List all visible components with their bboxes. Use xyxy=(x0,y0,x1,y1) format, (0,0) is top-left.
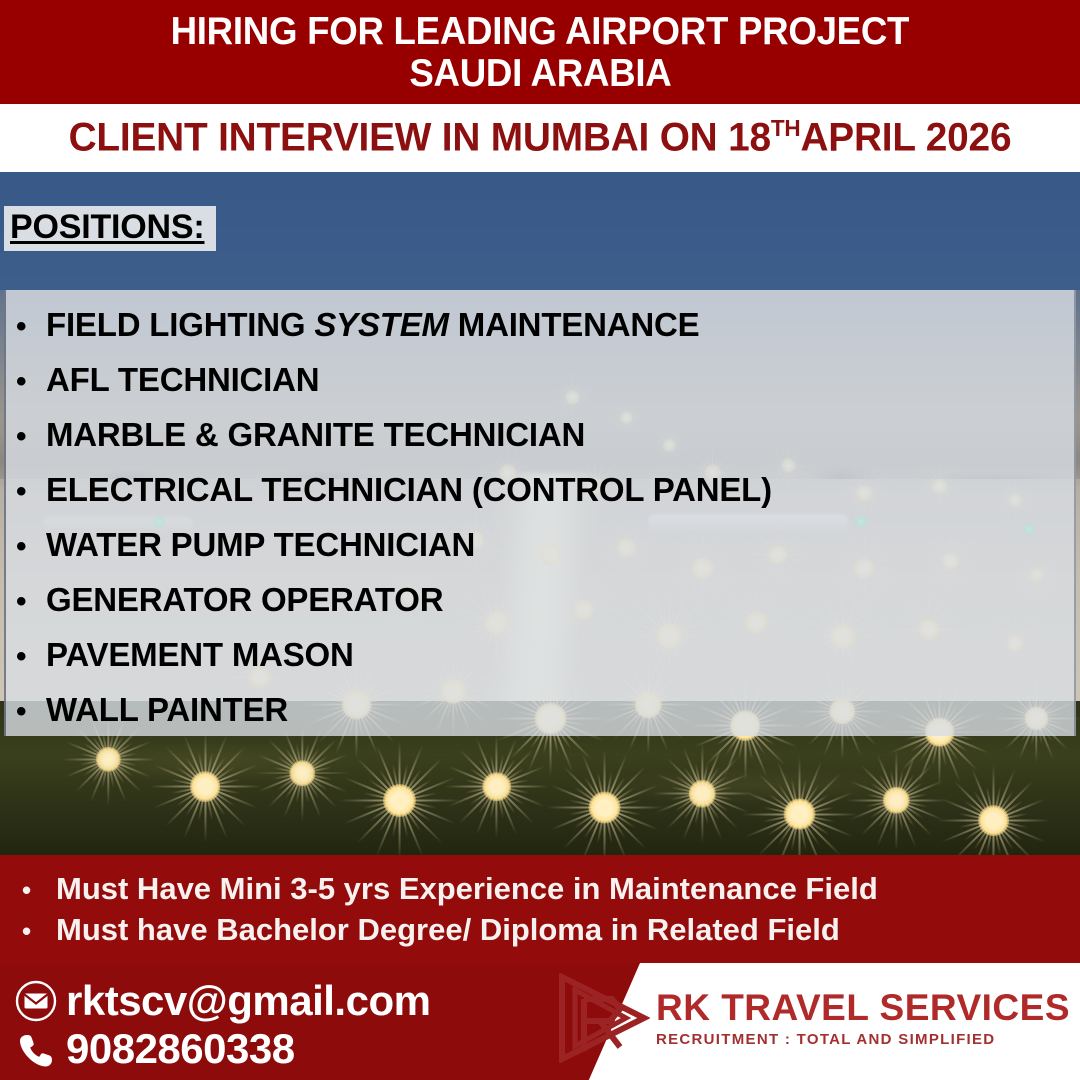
recruitment-poster: HIRING FOR LEADING AIRPORT PROJECT SAUDI… xyxy=(0,0,1080,1080)
position-label: WATER PUMP TECHNICIAN xyxy=(46,528,475,561)
position-list-item: •GENERATOR OPERATOR xyxy=(16,583,1074,617)
position-list-item: •MARBLE & GRANITE TECHNICIAN xyxy=(16,418,1074,452)
position-label: ELECTRICAL TECHNICIAN (CONTROL PANEL) xyxy=(46,473,772,506)
requirement-list-item: •Must Have Mini 3-5 yrs Experience in Ma… xyxy=(22,873,1080,904)
list-bullet-icon: • xyxy=(16,642,46,672)
position-label: PAVEMENT MASON xyxy=(46,638,354,671)
contact-email-text: rktscv@gmail.com xyxy=(66,977,430,1025)
positions-label-text: POSITIONS: xyxy=(10,208,204,246)
logo-tagline: RECRUITMENT : TOTAL AND SIMPLIFIED xyxy=(656,1032,1070,1047)
contact-email-row[interactable]: rktscv@gmail.com xyxy=(14,977,640,1025)
page-title-line-2: SAUDI ARABIA xyxy=(409,53,671,95)
rk-triangle-r-logo-icon xyxy=(554,973,650,1063)
logo-text: RK TRAVEL SERVICES RECRUITMENT : TOTAL A… xyxy=(656,989,1070,1047)
interview-date-ordinal: TH xyxy=(771,115,801,141)
positions-label: POSITIONS: xyxy=(4,206,216,251)
poster-header: HIRING FOR LEADING AIRPORT PROJECT SAUDI… xyxy=(0,0,1080,104)
list-bullet-icon: • xyxy=(16,312,46,342)
interview-date-text: CLIENT INTERVIEW IN MUMBAI ON 18THAPRIL … xyxy=(69,115,1012,160)
position-label: FIELD LIGHTING SYSTEM MAINTENANCE xyxy=(46,308,699,341)
position-list-item: •AFL TECHNICIAN xyxy=(16,363,1074,397)
position-label: MARBLE & GRANITE TECHNICIAN xyxy=(46,418,585,451)
position-label-emphasis: SYSTEM xyxy=(314,306,449,343)
positions-list-panel: •FIELD LIGHTING SYSTEM MAINTENANCE•AFL T… xyxy=(4,290,1076,736)
requirement-list-item: •Must have Bachelor Degree/ Diploma in R… xyxy=(22,914,1080,945)
position-label: WALL PAINTER xyxy=(46,693,288,726)
list-bullet-icon: • xyxy=(16,477,46,507)
interview-date-band: CLIENT INTERVIEW IN MUMBAI ON 18THAPRIL … xyxy=(0,104,1080,172)
list-bullet-icon: • xyxy=(16,532,46,562)
position-list-item: •ELECTRICAL TECHNICIAN (CONTROL PANEL) xyxy=(16,473,1074,507)
list-bullet-icon: • xyxy=(16,587,46,617)
position-list-item: •FIELD LIGHTING SYSTEM MAINTENANCE xyxy=(16,308,1074,342)
list-bullet-icon: • xyxy=(22,877,56,903)
interview-date-prefix: CLIENT INTERVIEW IN MUMBAI ON 18 xyxy=(69,116,771,160)
envelope-circle-icon xyxy=(14,979,58,1023)
contact-phone-row[interactable]: 9082860338 xyxy=(14,1025,640,1073)
position-label: GENERATOR OPERATOR xyxy=(46,583,443,616)
poster-footer: rktscv@gmail.com 9082860338 xyxy=(0,963,1080,1080)
logo-company-name: RK TRAVEL SERVICES xyxy=(656,989,1070,1026)
list-bullet-icon: • xyxy=(16,697,46,727)
requirement-text: Must Have Mini 3-5 yrs Experience in Mai… xyxy=(56,873,878,904)
requirements-band: •Must Have Mini 3-5 yrs Experience in Ma… xyxy=(0,855,1080,963)
position-label: AFL TECHNICIAN xyxy=(46,363,319,396)
list-bullet-icon: • xyxy=(16,367,46,397)
contact-phone-text: 9082860338 xyxy=(66,1025,295,1073)
position-list-item: • WALL PAINTER xyxy=(16,693,1074,727)
phone-handset-icon xyxy=(14,1027,58,1071)
contact-block: rktscv@gmail.com 9082860338 xyxy=(0,963,640,1080)
position-list-item: •PAVEMENT MASON xyxy=(16,638,1074,672)
company-logo[interactable]: RK TRAVEL SERVICES RECRUITMENT : TOTAL A… xyxy=(554,973,1070,1063)
requirement-text: Must have Bachelor Degree/ Diploma in Re… xyxy=(56,914,840,945)
list-bullet-icon: • xyxy=(22,918,56,944)
interview-date-suffix: APRIL 2026 xyxy=(801,116,1012,160)
position-list-item: •WATER PUMP TECHNICIAN xyxy=(16,528,1074,562)
page-title-line-1: HIRING FOR LEADING AIRPORT PROJECT xyxy=(171,11,910,53)
list-bullet-icon: • xyxy=(16,422,46,452)
